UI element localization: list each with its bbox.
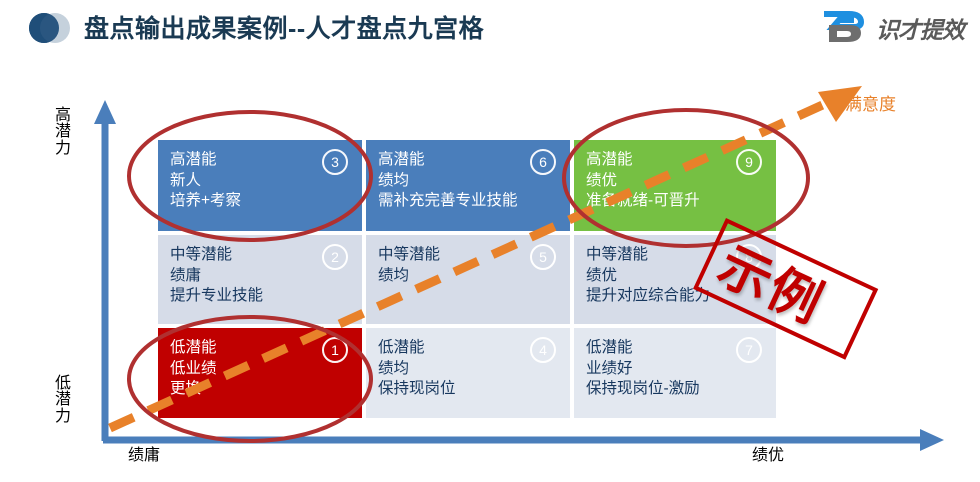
grid-cell-1[interactable]: 低潜能 低业绩 更换 1	[156, 326, 364, 420]
circles-logo	[28, 6, 72, 50]
d-logo-mark	[823, 11, 869, 45]
grid-cell-4[interactable]: 低潜能 绩均 保持现岗位 4	[364, 326, 572, 420]
grid-cell-2[interactable]: 中等潜能 绩庸 提升专业技能 2	[156, 233, 364, 326]
grid-cell-9-badge: 9	[736, 149, 762, 175]
x-axis-high-label: 绩优	[752, 448, 784, 464]
satisfaction-label: 满意度	[845, 90, 896, 115]
grid-cell-2-badge: 2	[322, 244, 348, 270]
y-axis-high-label: 高潜力	[54, 108, 72, 157]
grid-cell-3-badge: 3	[322, 149, 348, 175]
slide-header: 盘点输出成果案例--人才盘点九宫格 识才提效	[0, 0, 980, 56]
grid-cell-5-badge: 5	[530, 244, 556, 270]
brand-logo: 识才提效	[823, 8, 964, 48]
grid-cell-4-badge: 4	[530, 337, 556, 363]
page-title: 盘点输出成果案例--人才盘点九宫格	[84, 9, 484, 45]
x-axis-low-label: 绩庸	[128, 448, 160, 464]
brand-name: 识才提效	[876, 11, 964, 45]
nine-box-grid: 高潜能 新人 培养+考察 3 高潜能 绩均 需补充完善专业技能 6 高潜能 绩优…	[156, 138, 778, 420]
grid-cell-6[interactable]: 高潜能 绩均 需补充完善专业技能 6	[364, 138, 572, 233]
grid-cell-3[interactable]: 高潜能 新人 培养+考察 3	[156, 138, 364, 233]
grid-cell-9[interactable]: 高潜能 绩优 准备就绪-可晋升 9	[572, 138, 778, 233]
y-axis-low-label: 低潜力	[54, 376, 72, 425]
grid-cell-5[interactable]: 中等潜能 绩均 5	[364, 233, 572, 326]
nine-box-grid-chart: 高潜力 低潜力 绩庸 绩优 高潜能 新人 培养+考察 3 高潜能 绩均 需补充完…	[0, 56, 980, 482]
grid-cell-6-badge: 6	[530, 149, 556, 175]
x-axis	[103, 429, 944, 451]
y-axis	[94, 100, 116, 441]
grid-cell-7-badge: 7	[736, 337, 762, 363]
grid-cell-7[interactable]: 低潜能 业绩好 保持现岗位-激励 7	[572, 326, 778, 420]
grid-cell-1-badge: 1	[322, 337, 348, 363]
